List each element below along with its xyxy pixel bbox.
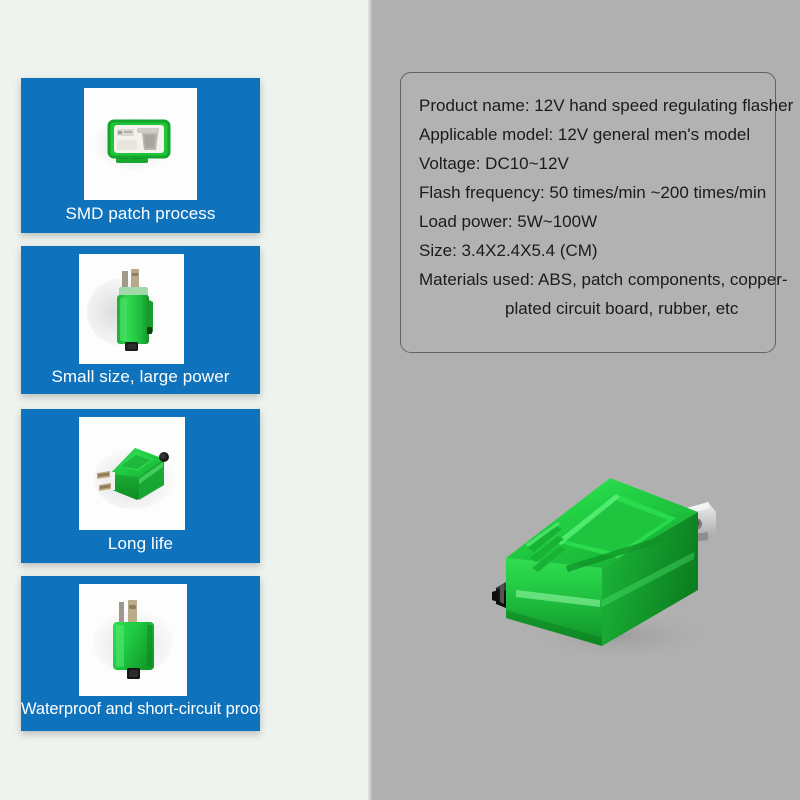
flasher-front-photo — [79, 584, 187, 696]
spec-line-applicable-model: Applicable model: 12V general men's mode… — [419, 120, 765, 149]
flasher-internal-pcb-photo — [84, 88, 197, 200]
feature-card-waterproof-short-circuit-proof[interactable]: Waterproof and short-circuit proof — [21, 576, 260, 731]
flasher-angled-illustration — [79, 417, 185, 530]
spec-line-voltage: Voltage: DC10~12V — [419, 149, 765, 178]
flasher-upright-illustration — [79, 254, 184, 364]
product-detail-page: SMD patch process — [0, 0, 800, 800]
feature-card-small-size-large-power[interactable]: Small size, large power — [21, 246, 260, 394]
spec-line-product-name: Product name: 12V hand speed regulating … — [419, 91, 765, 120]
flasher-upright-photo — [79, 254, 184, 364]
feature-card-long-life[interactable]: Long life — [21, 409, 260, 563]
flasher-relay-illustration — [470, 440, 760, 670]
spec-line-load-power: Load power: 5W~100W — [419, 207, 765, 236]
flasher-angled-photo — [79, 417, 185, 530]
spec-line-size: Size: 3.4X2.4X5.4 (CM) — [419, 236, 765, 265]
feature-card-caption: Waterproof and short-circuit proof — [21, 700, 260, 719]
flasher-open-housing-illustration — [84, 88, 197, 200]
feature-card-caption: Small size, large power — [21, 367, 260, 387]
spec-line-flash-frequency: Flash frequency: 50 times/min ~200 times… — [419, 178, 765, 207]
feature-card-smd-patch-process[interactable]: SMD patch process — [21, 78, 260, 233]
hero-product-image — [470, 440, 760, 670]
feature-card-caption: SMD patch process — [21, 204, 260, 224]
specification-list: Product name: 12V hand speed regulating … — [419, 91, 765, 323]
flasher-front-illustration — [79, 584, 187, 696]
spec-line-materials-used-continued: plated circuit board, rubber, etc — [419, 294, 765, 323]
feature-card-caption: Long life — [21, 534, 260, 554]
specification-panel: Product name: 12V hand speed regulating … — [400, 72, 776, 353]
spec-line-materials-used: Materials used: ABS, patch components, c… — [419, 265, 765, 294]
background-divider — [368, 0, 372, 800]
